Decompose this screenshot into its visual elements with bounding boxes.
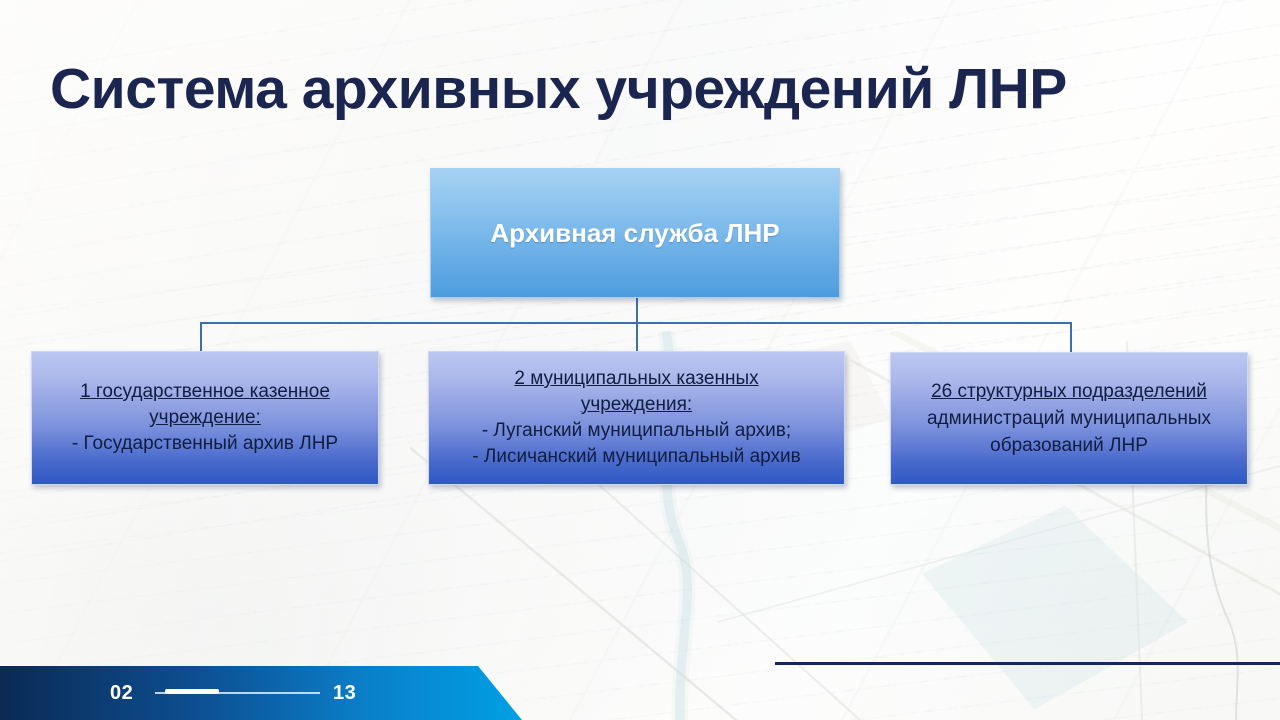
node-heading-line-2: учреждение:: [149, 405, 261, 431]
node-item: - Луганский муниципальный архив;: [482, 418, 791, 444]
node-heading: 1 государственное казенное учреждение:: [80, 379, 330, 431]
page-progress-indicator: [165, 689, 219, 694]
node-archival-service[interactable]: Архивная служба ЛНР: [430, 168, 840, 298]
node-heading-line-1: 26 структурных подразделений: [931, 378, 1207, 405]
node-item: - Государственный архив ЛНР: [72, 431, 338, 457]
connector-drop-right: [1070, 322, 1072, 352]
connector-drop-left: [200, 322, 202, 352]
node-state-institution[interactable]: 1 государственное казенное учреждение: -…: [31, 351, 379, 485]
node-heading-line-1: 1 государственное казенное: [80, 379, 330, 405]
node-items: - Луганский муниципальный архив; - Лисич…: [472, 418, 800, 470]
page-title: Система архивных учреждений ЛНР: [50, 56, 1067, 122]
node-structural-subdivisions[interactable]: 26 структурных подразделений администрац…: [890, 352, 1248, 485]
connector-drop-middle: [636, 322, 638, 352]
slide: Система архивных учреждений ЛНР Архивная…: [0, 0, 1280, 720]
current-page-number: 02: [110, 682, 133, 705]
node-label: Архивная служба ЛНР: [490, 218, 779, 249]
node-items: администраций муниципальных образований …: [927, 405, 1211, 459]
node-item: администраций муниципальных: [927, 405, 1211, 432]
node-heading-line-1: 2 муниципальных казенных: [514, 366, 758, 392]
node-heading: 26 структурных подразделений: [931, 378, 1207, 405]
footer-rule: [775, 662, 1280, 665]
connector-root-stem: [636, 298, 638, 323]
node-municipal-institutions[interactable]: 2 муниципальных казенных учреждения: - Л…: [428, 351, 845, 485]
node-heading: 2 муниципальных казенных учреждения:: [514, 366, 758, 418]
node-items: - Государственный архив ЛНР: [72, 431, 338, 457]
total-page-number: 13: [333, 682, 356, 705]
node-item: - Лисичанский муниципальный архив: [472, 444, 800, 470]
node-item: образований ЛНР: [990, 432, 1148, 459]
node-heading-line-2: учреждения:: [581, 392, 692, 418]
